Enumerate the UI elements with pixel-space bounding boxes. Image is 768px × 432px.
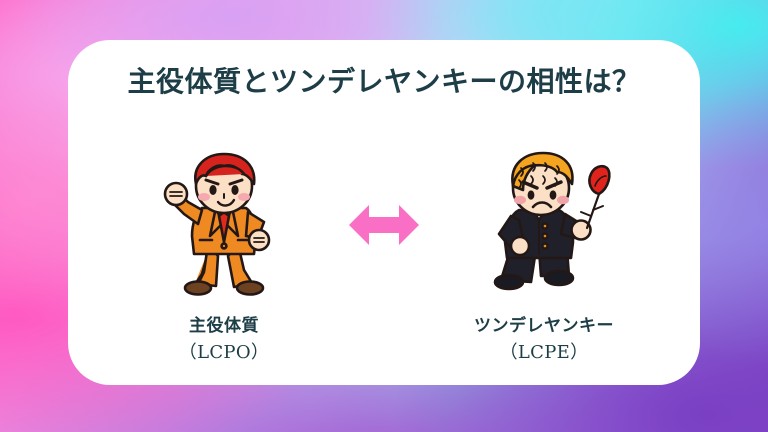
left-caption: 主役体質 （LCPO） (179, 314, 269, 366)
right-label-jp: ツンデレヤンキー (474, 314, 614, 339)
comparison-item-left: 主役体質 （LCPO） (119, 150, 329, 366)
comparison-row: 主役体質 （LCPO） (68, 150, 700, 366)
comparison-item-right: ツンデレヤンキー （LCPE） (439, 150, 649, 366)
right-label-code: （LCPE） (474, 339, 614, 366)
double-arrow-icon (349, 202, 419, 248)
left-figure (158, 150, 290, 300)
slide-canvas: 主役体質とツンデレヤンキーの相性は？ (0, 0, 768, 432)
content-card: 主役体質とツンデレヤンキーの相性は？ (68, 40, 700, 385)
page-title: 主役体質とツンデレヤンキーの相性は？ (68, 67, 700, 98)
left-label-jp: 主役体質 (179, 314, 269, 339)
right-caption: ツンデレヤンキー （LCPE） (474, 314, 614, 366)
confident-businessman-icon (158, 150, 290, 300)
connector-wrap (329, 150, 439, 300)
right-figure (475, 150, 613, 300)
left-label-code: （LCPO） (179, 339, 269, 366)
tsundere-yankee-icon (475, 150, 613, 300)
